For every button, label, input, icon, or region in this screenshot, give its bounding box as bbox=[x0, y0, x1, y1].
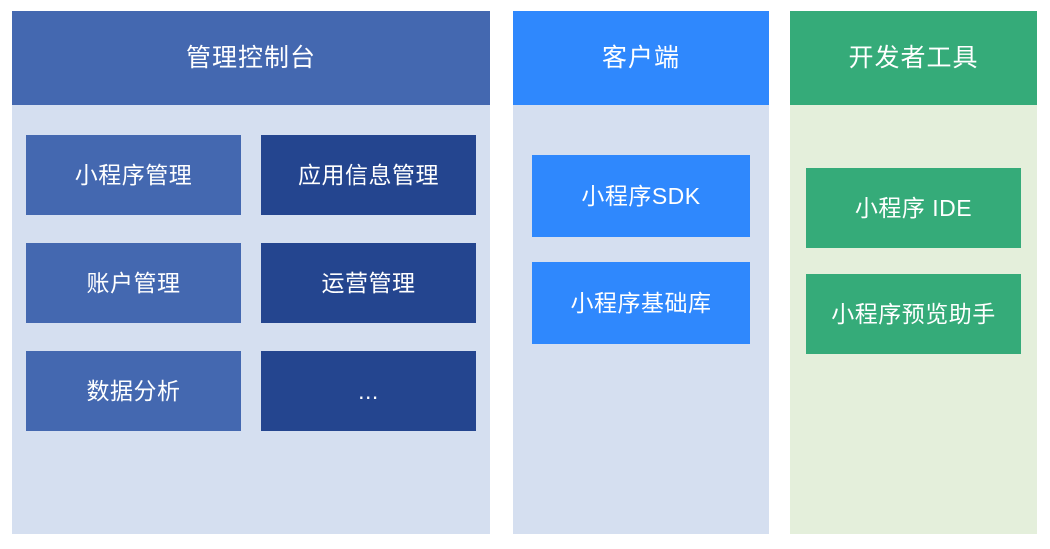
column-header-developer-tools: 开发者工具 bbox=[790, 11, 1037, 105]
column-body-developer-tools: 小程序 IDE 小程序预览助手 bbox=[790, 105, 1037, 534]
column-body-client: 小程序SDK 小程序基础库 bbox=[513, 105, 769, 534]
column-developer-tools: 开发者工具 小程序 IDE 小程序预览助手 bbox=[790, 11, 1037, 534]
card-mini-program-management[interactable]: 小程序管理 bbox=[26, 135, 241, 215]
client-card-stack: 小程序SDK 小程序基础库 bbox=[532, 155, 750, 344]
card-mini-program-ide[interactable]: 小程序 IDE bbox=[806, 168, 1021, 248]
developer-tools-card-stack: 小程序 IDE 小程序预览助手 bbox=[806, 168, 1021, 354]
architecture-diagram: 管理控制台 小程序管理 应用信息管理 账户管理 运营管理 数据分析 ... 客户… bbox=[0, 0, 1050, 549]
column-body-admin-console: 小程序管理 应用信息管理 账户管理 运营管理 数据分析 ... bbox=[12, 105, 490, 534]
column-client: 客户端 小程序SDK 小程序基础库 bbox=[513, 11, 769, 534]
card-operations-management[interactable]: 运营管理 bbox=[261, 243, 476, 323]
admin-console-card-grid: 小程序管理 应用信息管理 账户管理 运营管理 数据分析 ... bbox=[26, 135, 476, 431]
card-more-ellipsis[interactable]: ... bbox=[261, 351, 476, 431]
column-header-admin-console: 管理控制台 bbox=[12, 11, 490, 105]
card-account-management[interactable]: 账户管理 bbox=[26, 243, 241, 323]
card-mini-program-sdk[interactable]: 小程序SDK bbox=[532, 155, 750, 237]
card-app-info-management[interactable]: 应用信息管理 bbox=[261, 135, 476, 215]
column-header-client: 客户端 bbox=[513, 11, 769, 105]
card-mini-program-base-library[interactable]: 小程序基础库 bbox=[532, 262, 750, 344]
card-mini-program-preview-assistant[interactable]: 小程序预览助手 bbox=[806, 274, 1021, 354]
column-admin-console: 管理控制台 小程序管理 应用信息管理 账户管理 运营管理 数据分析 ... bbox=[12, 11, 490, 534]
card-data-analysis[interactable]: 数据分析 bbox=[26, 351, 241, 431]
